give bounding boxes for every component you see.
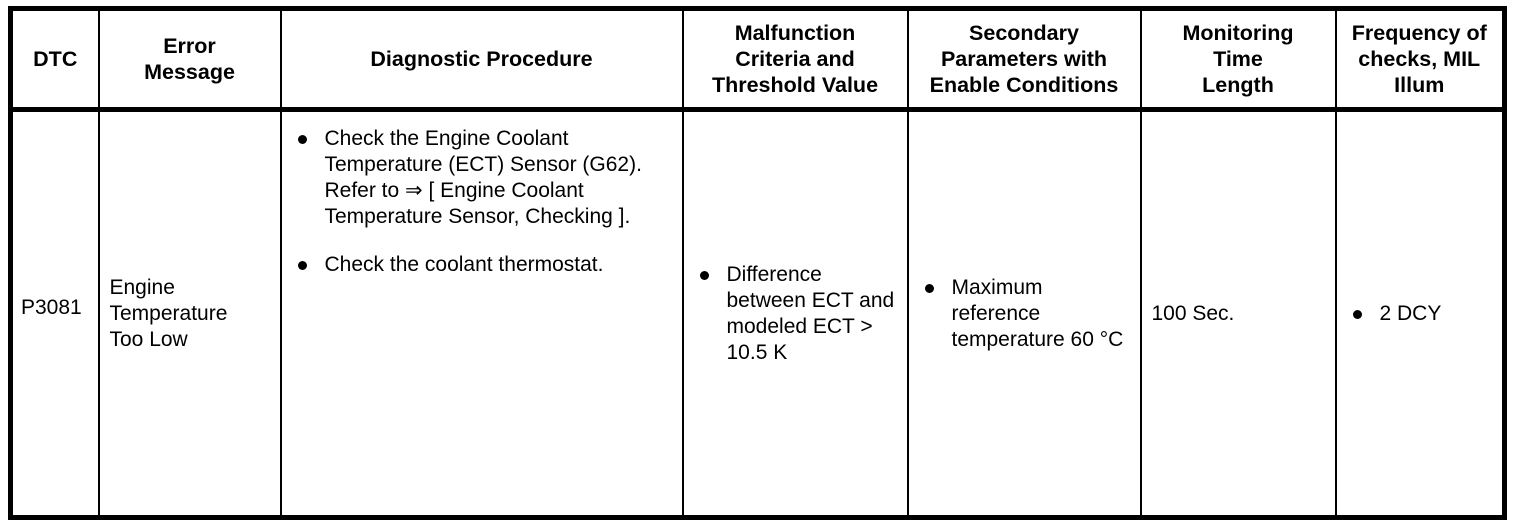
dtc-diagnostic-table: DTC Error Message Diagnostic Procedure M… — [8, 6, 1507, 520]
cell-error-message: Engine Temperature Too Low — [99, 110, 281, 518]
error-message-text: Engine Temperature Too Low — [110, 275, 272, 353]
list-item-text: Check the Engine Coolant Temperature (EC… — [325, 127, 642, 228]
column-header-secondary-parameters: Secondary Parameters with Enable Conditi… — [908, 9, 1141, 110]
column-header-monitoring-time-length: Monitoring Time Length — [1141, 9, 1336, 110]
cell-monitoring-time-length: 100 Sec. — [1141, 110, 1336, 518]
malfunction-criteria-list: Difference between ECT and modeled ECT >… — [694, 262, 899, 366]
cell-frequency-of-checks: 2 DCY — [1336, 110, 1505, 518]
bullet-icon — [298, 135, 307, 144]
bullet-icon — [1353, 310, 1362, 319]
bullet-icon — [700, 271, 709, 280]
list-item: Difference between ECT and modeled ECT >… — [694, 262, 899, 366]
monitoring-time-value: 100 Sec. — [1152, 301, 1327, 327]
list-item: 2 DCY — [1347, 301, 1495, 327]
diagnostic-procedure-list: Check the Engine Coolant Temperature (EC… — [292, 126, 674, 278]
cell-secondary-parameters: Maximum reference temperature 60 °C — [908, 110, 1141, 518]
list-item: Maximum reference temperature 60 °C — [919, 275, 1132, 353]
column-header-malfunction-criteria: Malfunction Criteria and Threshold Value — [683, 9, 908, 110]
list-item: Check the Engine Coolant Temperature (EC… — [292, 126, 674, 230]
column-header-dtc: DTC — [11, 9, 99, 110]
list-item: Check the coolant thermostat. — [292, 252, 674, 278]
bullet-icon — [298, 261, 307, 270]
bullet-icon — [925, 284, 934, 293]
secondary-parameters-list: Maximum reference temperature 60 °C — [919, 275, 1132, 353]
table-row: P3081 Engine Temperature Too Low — [11, 110, 1505, 518]
list-item-text: Difference between ECT and modeled ECT >… — [727, 263, 895, 364]
list-item-text: Maximum reference temperature 60 °C — [952, 276, 1124, 351]
list-item-text: Check the coolant thermostat. — [325, 253, 604, 276]
list-item-text: 2 DCY — [1380, 302, 1442, 325]
table-header-row: DTC Error Message Diagnostic Procedure M… — [11, 9, 1505, 110]
column-header-error-message: Error Message — [99, 9, 281, 110]
dtc-code: P3081 — [13, 295, 98, 321]
cell-malfunction-criteria: Difference between ECT and modeled ECT >… — [683, 110, 908, 518]
page-canvas: DTC Error Message Diagnostic Procedure M… — [0, 0, 1520, 508]
cell-dtc: P3081 — [11, 110, 99, 518]
column-header-frequency-of-checks: Frequency of checks, MIL Illum — [1336, 9, 1505, 110]
column-header-diagnostic-procedure: Diagnostic Procedure — [281, 9, 683, 110]
frequency-of-checks-list: 2 DCY — [1347, 301, 1495, 327]
cell-diagnostic-procedure: Check the Engine Coolant Temperature (EC… — [281, 110, 683, 518]
